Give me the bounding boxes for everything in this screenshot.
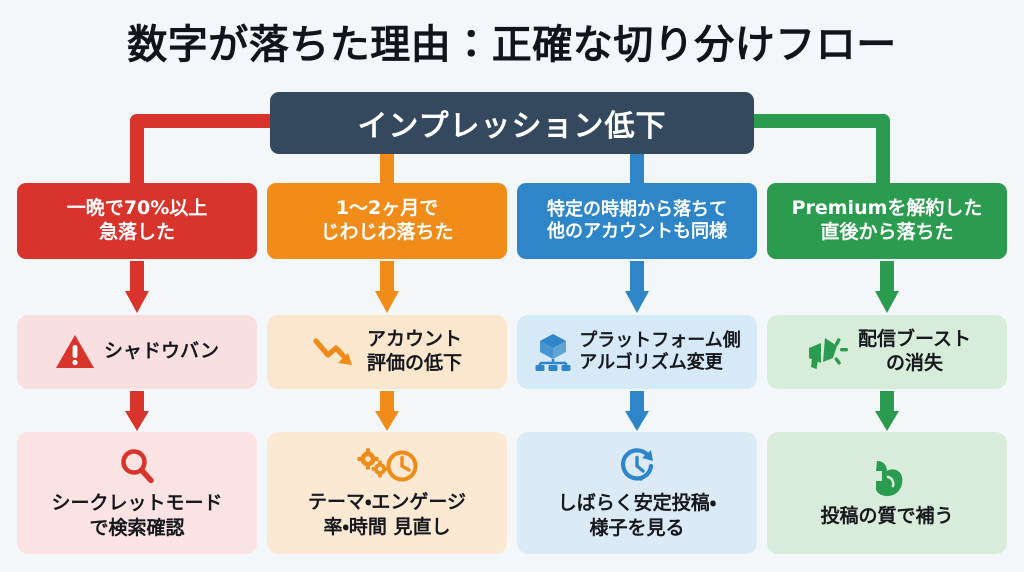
action-line-1: シークレットモード [51, 491, 222, 516]
detail-box-account-rating[interactable]: アカウント 評価の低下 [267, 315, 507, 389]
arrow-cause-to-detail [875, 261, 899, 313]
cause-line-2: 急落した [99, 221, 175, 245]
action-box-post-quality[interactable]: 投稿の質で補う [767, 432, 1007, 554]
detail-line-2: 評価の低下 [367, 352, 462, 376]
arrow-cause-to-detail [125, 261, 149, 313]
action-box-secret-mode-search[interactable]: シークレットモード で検索確認 [17, 432, 257, 554]
warning-triangle-icon [55, 333, 95, 371]
flexed-bicep-icon [865, 457, 909, 499]
action-line-1: テーマ・エンゲージ [308, 490, 466, 515]
cause-box-shadowban[interactable]: 一晩で70%以上 急落した [17, 183, 257, 259]
action-box-theme-engagement-review[interactable]: テーマ・エンゲージ 率・時間 見直し [267, 432, 507, 554]
cause-line-2: 他のアカウントも同様 [547, 221, 727, 244]
detail-line-2: の消失 [858, 352, 971, 376]
cause-box-premium-cancel[interactable]: Premiumを解約した 直後から落ちた [767, 183, 1007, 259]
cause-box-platform-algorithm[interactable]: 特定の時期から落ちて 他のアカウントも同様 [517, 183, 757, 259]
arrow-cause-to-detail [375, 261, 399, 313]
detail-box-shadowban[interactable]: シャドウバン [17, 315, 257, 389]
action-line-1: 投稿の質で補う [820, 504, 953, 529]
cause-line-2: 直後から落ちた [820, 221, 953, 245]
megaphone-icon [803, 332, 849, 372]
detail-box-boost-loss[interactable]: 配信ブースト の消失 [767, 315, 1007, 389]
arrow-detail-to-action [375, 391, 399, 431]
cause-line-1: 一晩で70%以上 [67, 197, 207, 221]
cause-line-1: Premiumを解約した [792, 197, 983, 221]
action-line-2: で検索確認 [51, 516, 222, 541]
cause-box-account-rating[interactable]: 1〜2ヶ月で じわじわ落ちた [267, 183, 507, 259]
cause-line-1: 特定の時期から落ちて [547, 199, 727, 222]
detail-line-1: 配信ブースト [858, 328, 971, 352]
detail-line-1: シャドウバン [104, 340, 219, 364]
detail-line-1: アカウント [367, 328, 462, 352]
arrow-cause-to-detail [625, 261, 649, 313]
arrow-detail-to-action [625, 391, 649, 431]
detail-line-1: プラットフォーム側 [579, 330, 740, 353]
action-box-stable-posting-wait[interactable]: しばらく安定投稿・ 様子を見る [517, 432, 757, 554]
arrow-detail-to-action [875, 391, 899, 431]
flowchart-canvas: 数字が落ちた理由：正確な切り分けフロー インプレッション低下 一晩で70%以上 … [0, 0, 1024, 572]
magnifier-icon [117, 446, 157, 486]
detail-line-2: アルゴリズム変更 [579, 352, 740, 375]
action-line-2: 様子を見る [558, 516, 716, 541]
action-line-2: 率・時間 見直し [308, 515, 466, 540]
cause-line-1: 1〜2ヶ月で [336, 197, 438, 221]
gears-clock-icon [355, 447, 419, 485]
trend-down-arrow-icon [312, 333, 358, 371]
action-line-1: しばらく安定投稿・ [558, 491, 716, 516]
network-cube-icon [533, 332, 573, 372]
root-node-impression-decline[interactable]: インプレッション低下 [270, 92, 754, 154]
cause-line-2: じわじわ落ちた [320, 221, 453, 245]
root-node-label: インプレッション低下 [357, 101, 666, 145]
clock-history-icon [616, 446, 658, 486]
arrow-detail-to-action [125, 391, 149, 431]
detail-box-platform-algorithm[interactable]: プラットフォーム側 アルゴリズム変更 [517, 315, 757, 389]
